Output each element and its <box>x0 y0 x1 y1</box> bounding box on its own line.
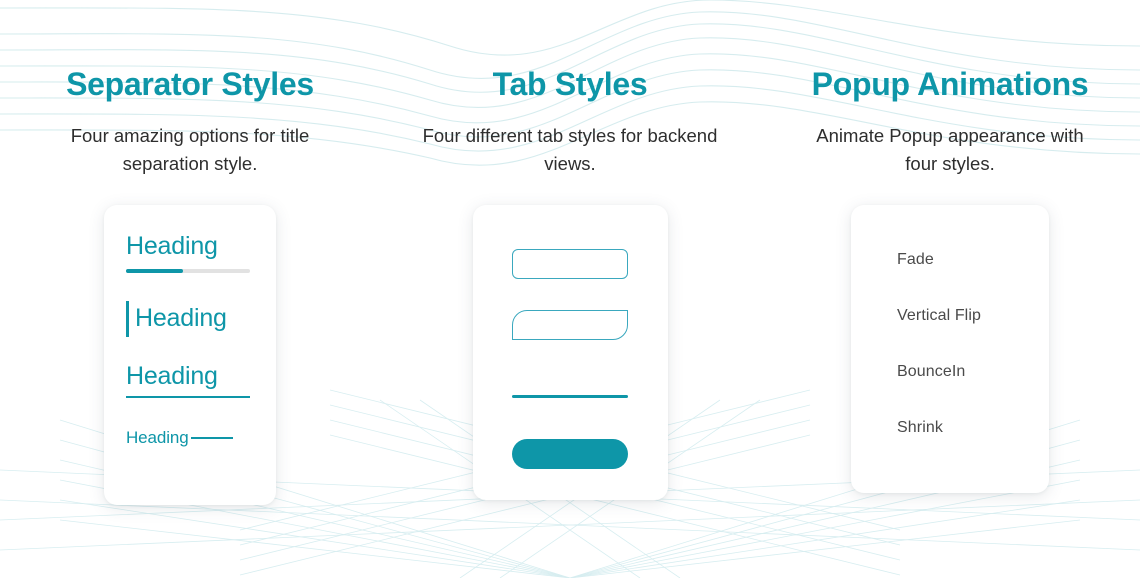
separator-heading-label: Heading <box>126 233 276 259</box>
feature-columns-row: Separator Styles Four amazing options fo… <box>0 0 1140 578</box>
tab-preview-rounded-outline[interactable] <box>512 249 628 279</box>
partial-underline-rule <box>126 269 250 273</box>
column-title: Tab Styles <box>493 66 648 103</box>
tab-preview-mixed-radius-outline[interactable] <box>512 310 628 340</box>
column-title: Popup Animations <box>812 66 1089 103</box>
animation-option-vertical-flip[interactable]: Vertical Flip <box>851 307 1049 325</box>
full-underline-rule <box>126 396 250 398</box>
separator-preview-card: Heading Heading Heading Heading <box>104 205 276 505</box>
tab-preview-filled-pill[interactable] <box>512 439 628 469</box>
separator-preview-left-vertical-bar[interactable]: Heading <box>104 301 276 337</box>
separator-heading-label: Heading <box>126 428 189 448</box>
separator-preview-partial-underline[interactable]: Heading <box>104 233 276 272</box>
column-subtitle: Four different tab styles for backend vi… <box>420 122 720 178</box>
column-title: Separator Styles <box>66 66 314 103</box>
tab-preview-underline-only[interactable] <box>512 395 628 398</box>
separator-preview-inline-trailing-line[interactable]: Heading <box>104 428 276 448</box>
animation-option-fade[interactable]: Fade <box>851 251 1049 269</box>
trailing-line-rule <box>191 437 233 439</box>
separator-preview-full-underline[interactable]: Heading <box>104 363 276 398</box>
column-subtitle: Animate Popup appearance with four style… <box>800 122 1100 178</box>
column-subtitle: Four amazing options for title separatio… <box>40 122 340 178</box>
separator-heading-label: Heading <box>126 363 276 389</box>
column-popup-animations: Popup Animations Animate Popup appearanc… <box>760 0 1140 493</box>
separator-heading-label: Heading <box>135 305 227 331</box>
animation-option-bouncein[interactable]: BounceIn <box>851 363 1049 381</box>
animation-list-card: Fade Vertical Flip BounceIn Shrink <box>851 205 1049 493</box>
vertical-bar-rule <box>126 301 129 337</box>
column-tab-styles: Tab Styles Four different tab styles for… <box>380 0 760 500</box>
animation-option-shrink[interactable]: Shrink <box>851 419 1049 437</box>
tab-preview-card <box>473 205 668 500</box>
column-separator-styles: Separator Styles Four amazing options fo… <box>0 0 380 505</box>
